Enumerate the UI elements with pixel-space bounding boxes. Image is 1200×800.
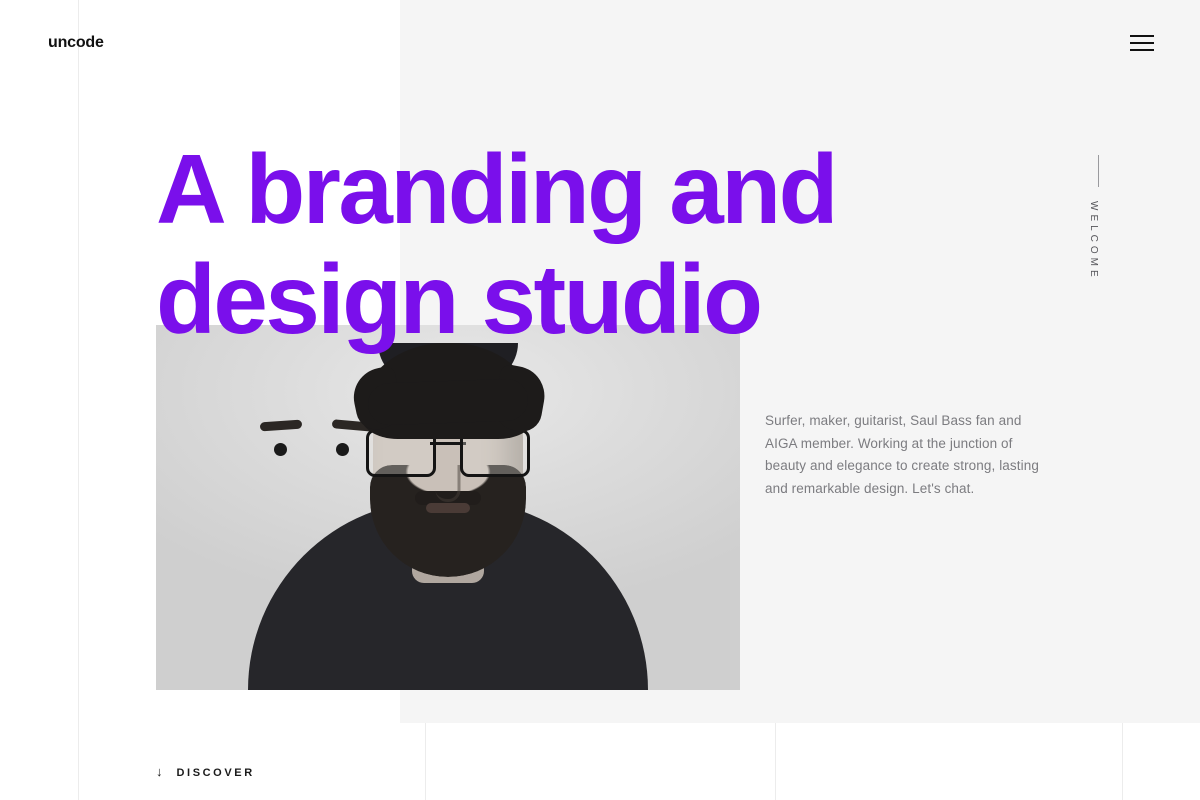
- hamburger-menu-icon[interactable]: [1130, 35, 1154, 53]
- portrait-artwork: [156, 325, 740, 690]
- hero-portrait-image: [156, 325, 740, 690]
- layout-rule-left: [78, 0, 79, 800]
- arrow-down-icon: ↓: [156, 765, 163, 778]
- discover-label: DISCOVER: [177, 767, 255, 779]
- site-logo[interactable]: uncode: [48, 34, 104, 52]
- hamburger-line-2: [1130, 42, 1154, 44]
- page-root: uncode: [0, 0, 1200, 800]
- portrait-hair-tuft-right: [491, 363, 549, 434]
- site-header: uncode: [0, 0, 1200, 88]
- layout-rule-column-2: [775, 723, 776, 800]
- portrait-eye-left: [274, 443, 287, 456]
- portrait-brow-left: [260, 420, 303, 432]
- welcome-label-group: WELCOME: [1088, 155, 1108, 281]
- hamburger-line-3: [1130, 49, 1154, 51]
- portrait-eye-right: [336, 443, 349, 456]
- welcome-rule: [1098, 155, 1099, 187]
- layout-rule-column-3: [1122, 723, 1123, 800]
- hamburger-line-1: [1130, 35, 1154, 37]
- discover-button[interactable]: ↓ DISCOVER: [156, 766, 255, 779]
- layout-rule-column-1: [425, 723, 426, 800]
- hero-intro-paragraph: Surfer, maker, guitarist, Saul Bass fan …: [765, 410, 1050, 500]
- welcome-label: WELCOME: [1088, 201, 1099, 281]
- portrait-mouth: [426, 503, 470, 513]
